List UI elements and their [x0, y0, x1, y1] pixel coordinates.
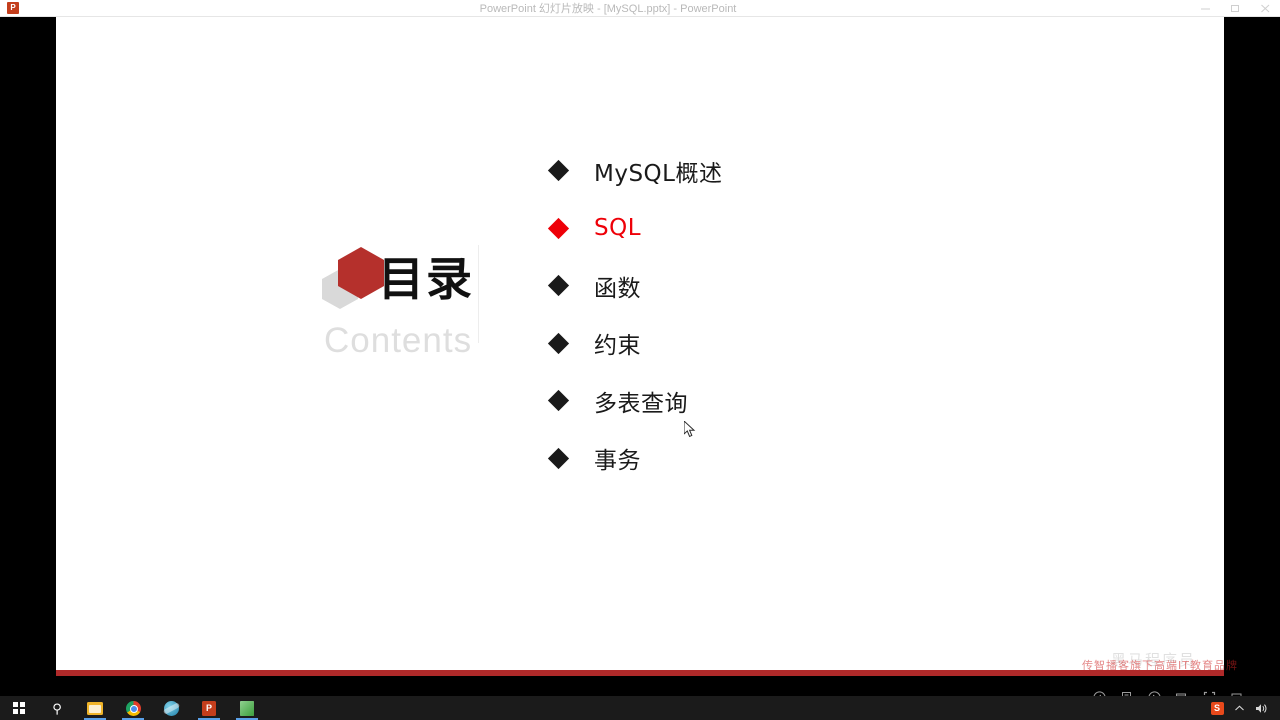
system-tray[interactable]: S [1206, 696, 1280, 720]
powerpoint-glyph: P [7, 2, 19, 14]
start-button[interactable] [0, 696, 38, 720]
powerpoint-icon: P [0, 0, 26, 17]
slide-title: 目录 [378, 253, 474, 305]
taskbar-file-explorer[interactable] [76, 696, 114, 720]
toc-label-0: MySQL概述 [594, 154, 722, 188]
vertical-divider [478, 245, 479, 343]
toc-label-1: SQL [594, 215, 641, 241]
toc-item-3[interactable]: 约束 [551, 315, 971, 373]
slide-subtitle: Contents [324, 321, 472, 361]
toc-label-2: 函数 [594, 269, 641, 303]
window-controls [1190, 0, 1280, 17]
taskbar-chrome[interactable] [114, 696, 152, 720]
slide-footer-bar [56, 670, 1224, 676]
diamond-bullet-icon [548, 390, 569, 411]
taskbar-search-button[interactable]: ⚲ [38, 696, 76, 720]
logo-hex-row: 目录 [266, 239, 536, 301]
search-icon: ⚲ [52, 702, 62, 715]
sogou-glyph: S [1211, 702, 1224, 715]
restore-button[interactable] [1220, 0, 1250, 17]
toc-label-5: 事务 [594, 441, 641, 475]
volume-icon[interactable] [1250, 696, 1272, 720]
diamond-bullet-icon [548, 333, 569, 354]
taskbar-powerpoint[interactable]: P [190, 696, 228, 720]
diamond-bullet-icon [548, 275, 569, 296]
chrome-icon [126, 701, 141, 716]
folder-icon [87, 702, 103, 715]
toc-label-4: 多表查询 [594, 384, 688, 418]
windows-taskbar[interactable]: ⚲ P S [0, 696, 1280, 720]
slide-canvas[interactable]: 目录 Contents MySQL概述 SQL 函数 约束 [56, 17, 1224, 676]
toc-item-0[interactable]: MySQL概述 [551, 142, 971, 200]
windows-logo-icon [13, 702, 26, 715]
slideshow-stage[interactable]: 目录 Contents MySQL概述 SQL 函数 约束 [0, 17, 1280, 689]
close-button[interactable] [1250, 0, 1280, 17]
toc-item-1[interactable]: SQL [551, 200, 971, 258]
browser-globe-icon [164, 701, 179, 716]
toc-item-2[interactable]: 函数 [551, 257, 971, 315]
diamond-bullet-icon [548, 160, 569, 181]
toc-item-4[interactable]: 多表查询 [551, 372, 971, 430]
window-title: PowerPoint 幻灯片放映 - [MySQL.pptx] - PowerP… [26, 0, 1190, 16]
toc-label-3: 约束 [594, 326, 641, 360]
table-of-contents: MySQL概述 SQL 函数 约束 多表查询 事务 [551, 142, 971, 487]
diamond-bullet-icon [548, 448, 569, 469]
toc-item-5[interactable]: 事务 [551, 430, 971, 488]
minimize-button[interactable] [1190, 0, 1220, 17]
window-titlebar: P PowerPoint 幻灯片放映 - [MySQL.pptx] - Powe… [0, 0, 1280, 17]
diamond-bullet-icon [548, 218, 569, 239]
show-hidden-icons-button[interactable] [1228, 696, 1250, 720]
taskbar-browser[interactable] [152, 696, 190, 720]
slide-logo-block: 目录 Contents [266, 239, 536, 364]
taskbar-excel[interactable] [228, 696, 266, 720]
powerpoint-icon: P [202, 701, 216, 716]
sogou-input-icon[interactable]: S [1206, 696, 1228, 720]
excel-icon [240, 701, 254, 716]
